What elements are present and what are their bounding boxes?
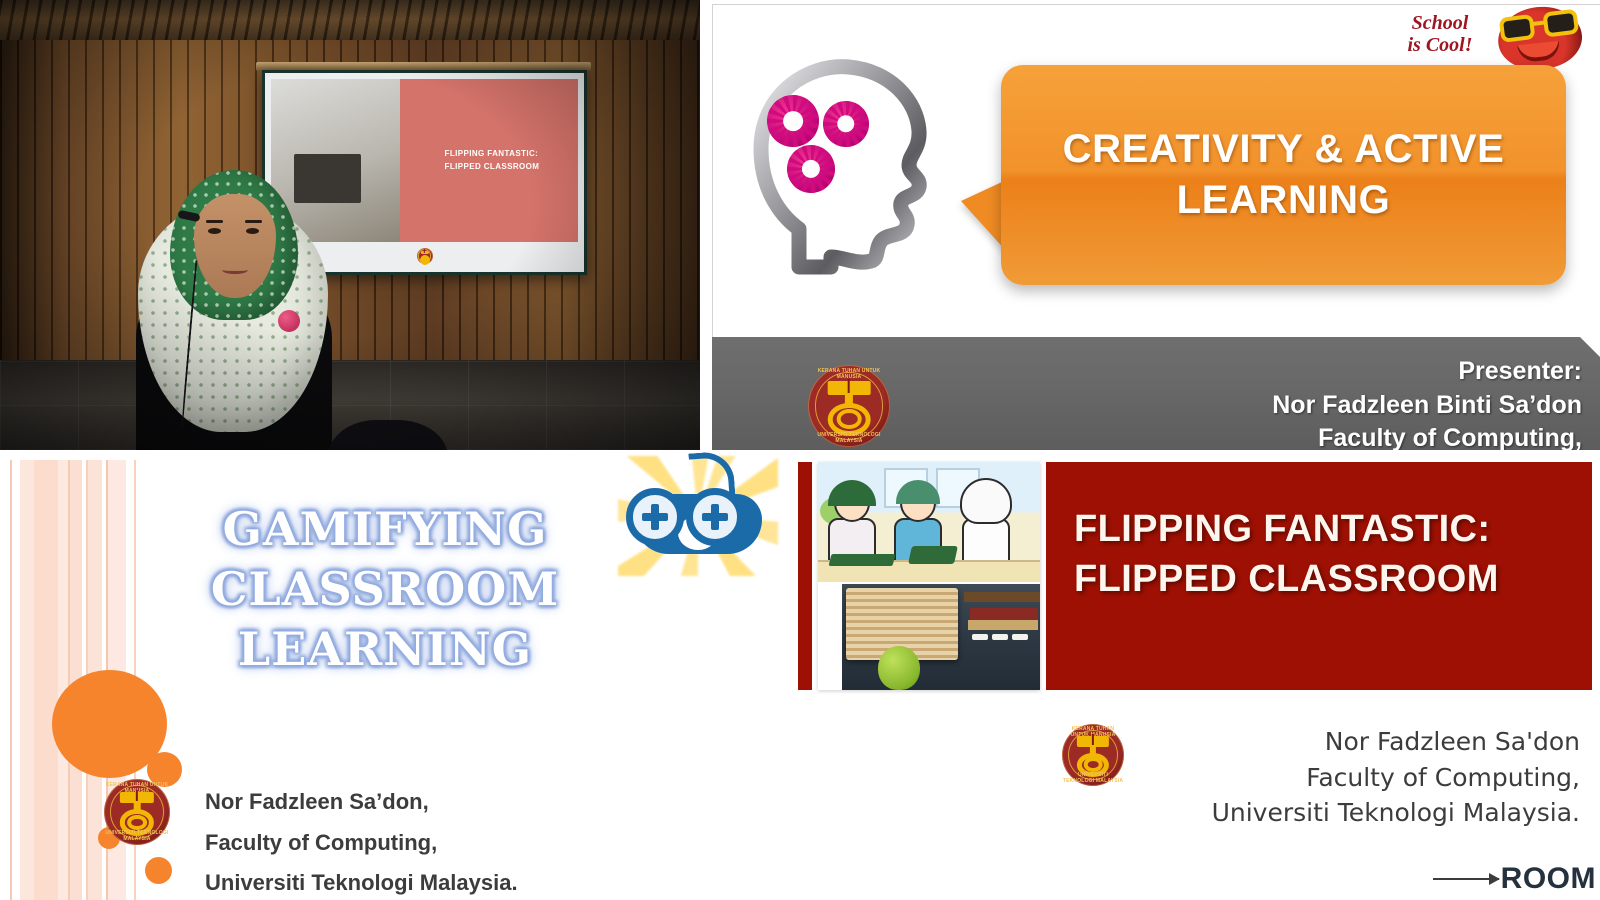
utm-motto-bottom: UNIVERSITI TEKNOLOGI MALAYSIA	[1062, 772, 1124, 784]
presenter-details: Presenter: Nor Fadzleen Binti Sa’don Fac…	[1272, 355, 1582, 450]
flipped-credits: Nor Fadzleen Sa'don Faculty of Computing…	[1140, 724, 1580, 831]
flipped-title-line2: FLIPPED CLASSROOM	[1074, 554, 1574, 604]
utm-logo: KERANA TUHAN UNTUK MANUSIA UNIVERSITI TE…	[1062, 724, 1124, 786]
presenter-faculty: Faculty of Computing,	[1272, 422, 1582, 450]
head-outline-icon	[731, 53, 941, 278]
gamifying-title-line2: CLASSROOM	[150, 560, 620, 620]
flipped-credit-line3: Universiti Teknologi Malaysia.	[1140, 795, 1580, 831]
gamifying-credit-line3: Universiti Teknologi Malaysia.	[205, 863, 518, 900]
presenter-photo: FLIPPING FANTASTIC: FLIPPED CLASSROOM	[0, 0, 700, 450]
gear-icon-1	[767, 95, 819, 147]
photo-vignette	[0, 0, 700, 450]
red-accent-bar	[798, 462, 812, 690]
flipped-classroom-slide: FLIPPING FANTASTIC: FLIPPED CLASSROOM KE…	[790, 452, 1600, 900]
students-cartoon-image	[818, 462, 1040, 582]
speech-bubble: CREATIVITY & ACTIVE LEARNING	[1001, 65, 1566, 285]
utm-motto-bottom: UNIVERSITI TEKNOLOGI MALAYSIA	[104, 830, 170, 842]
gear-icon-2	[823, 101, 869, 147]
school-is-cool-line1: School	[1412, 12, 1469, 34]
flipped-title-line1: FLIPPING FANTASTIC:	[1074, 504, 1574, 554]
presenter-banner: KERANA TUHAN UNTUK MANUSIA UNIVERSITI TE…	[712, 337, 1600, 450]
dpad-icon	[702, 504, 728, 530]
creativity-title-line2: LEARNING	[1177, 175, 1391, 226]
gamifying-title-line3: LEARNING	[150, 620, 620, 680]
utm-motto-bottom: UNIVERSITI TEKNOLOGI MALAYSIA	[808, 432, 890, 444]
corner-label-text: ROOM	[1501, 862, 1596, 896]
presenter-label: Presenter:	[1272, 355, 1582, 389]
gamifying-slide: GAMIFYING CLASSROOM LEARNING KERANA TUHA…	[0, 452, 784, 900]
apple-icon	[878, 646, 920, 690]
decorative-circle-xsmall	[145, 857, 172, 884]
flipped-title-block: FLIPPING FANTASTIC: FLIPPED CLASSROOM	[1046, 462, 1592, 690]
dpad-icon	[642, 504, 668, 530]
utm-logo: KERANA TUHAN UNTUK MANUSIA UNIVERSITI TE…	[104, 779, 170, 845]
presenter-name: Nor Fadzleen Binti Sa’don	[1272, 389, 1582, 423]
tablet-icon	[908, 546, 958, 564]
head-with-gears-icon	[731, 53, 941, 278]
books-and-apple-photo	[842, 584, 1040, 690]
school-is-cool-badge: School is Cool!	[1386, 7, 1586, 73]
gamifying-credit-line1: Nor Fadzleen Sa’don,	[205, 782, 518, 823]
corner-arrow-label: ROOM	[1433, 862, 1596, 896]
gamifying-credits: Nor Fadzleen Sa’don, Faculty of Computin…	[205, 782, 518, 900]
book-icon	[829, 554, 896, 566]
creativity-title-line1: CREATIVITY & ACTIVE	[1063, 124, 1505, 175]
school-is-cool-line2: is Cool!	[1407, 34, 1472, 56]
flipped-credit-line1: Nor Fadzleen Sa'don	[1140, 724, 1580, 760]
utm-logo: KERANA TUHAN UNTUK MANUSIA UNIVERSITI TE…	[808, 365, 890, 447]
arrow-icon	[1433, 878, 1499, 880]
student-figure	[824, 484, 880, 560]
gamifying-credit-line2: Faculty of Computing,	[205, 823, 518, 864]
gamifying-title: GAMIFYING CLASSROOM LEARNING	[150, 500, 620, 679]
collage-root: FLIPPING FANTASTIC: FLIPPED CLASSROOM	[0, 0, 1600, 900]
gear-icon-3	[787, 145, 835, 193]
gamifying-title-line1: GAMIFYING	[150, 500, 620, 560]
student-figure	[958, 484, 1014, 560]
gamepad-icon	[608, 452, 783, 582]
slide-image-stack	[818, 462, 1040, 690]
flipped-credit-line2: Faculty of Computing,	[1140, 760, 1580, 796]
